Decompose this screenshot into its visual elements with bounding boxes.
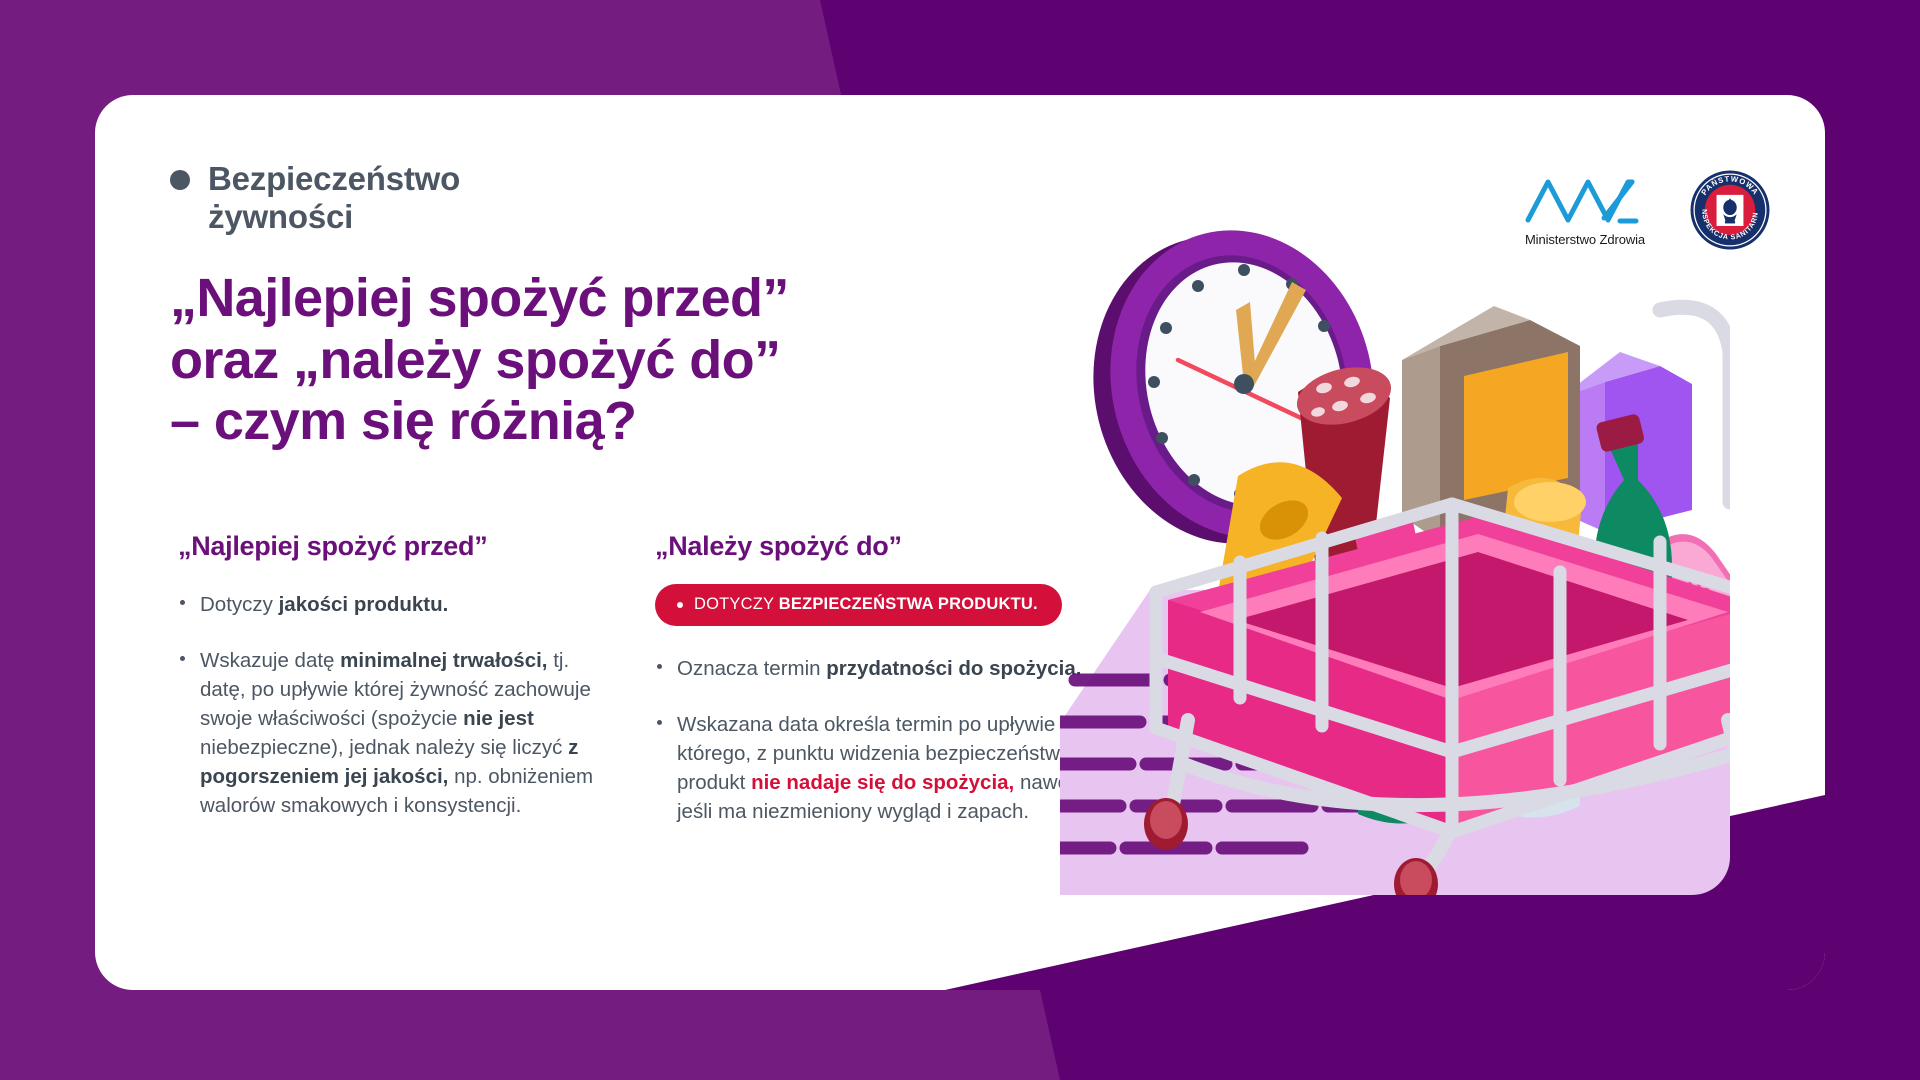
- badge-prefix: DOTYCZY: [694, 595, 779, 613]
- right-column-title: „Należy spożyć do”: [655, 530, 1085, 562]
- left-bullet-item: Wskazuje datę minimalnej trwałości, tj. …: [178, 646, 608, 821]
- badge-text: DOTYCZY BEZPIECZEŃSTWA PRODUKTU.: [694, 595, 1038, 614]
- infographic-canvas: Bezpieczeństwo żywności „Najlepiej spoży…: [0, 0, 1920, 1080]
- eyebrow-text: Bezpieczeństwo żywności: [208, 160, 460, 237]
- headline-line-3: – czym się różnią?: [170, 391, 1150, 453]
- page-title: „Najlepiej spożyć przed” oraz „należy sp…: [170, 268, 1150, 453]
- right-column-bullet-list: Oznacza termin przydatności do spożycia.…: [655, 654, 1085, 826]
- left-bullet-item-0-part-1: jakości produktu.: [279, 593, 449, 616]
- headline-line-1: „Najlepiej spożyć przed”: [170, 268, 1150, 330]
- status-badge: DOTYCZY BEZPIECZEŃSTWA PRODUKTU.: [655, 584, 1062, 626]
- headline-line-2: oraz „należy spożyć do”: [170, 330, 1150, 392]
- left-column-bullet-list: Dotyczy jakości produktu.Wskazuje datę m…: [178, 590, 608, 820]
- right-bullet-item-1-part-1: nie nadaje się do spożycia,: [751, 771, 1014, 794]
- badge-bullet-icon: [677, 602, 683, 608]
- left-bullet-item: Dotyczy jakości produktu.: [178, 590, 608, 619]
- right-column: „Należy spożyć do” DOTYCZY BEZPIECZEŃSTW…: [655, 530, 1085, 852]
- right-bullet-item-0-part-0: Oznacza termin: [677, 657, 826, 680]
- left-bullet-item-1-part-4: niebezpieczne), jednak należy się liczyć: [200, 736, 568, 759]
- left-column: „Najlepiej spożyć przed” Dotyczy jakości…: [178, 530, 608, 846]
- eyebrow-line-2: żywności: [208, 198, 353, 235]
- eyebrow-label: Bezpieczeństwo żywności: [170, 160, 690, 237]
- badge-emphasis: BEZPIECZEŃSTWA PRODUKTU.: [779, 595, 1038, 613]
- eyebrow-line-1: Bezpieczeństwo: [208, 160, 460, 197]
- left-bullet-item-1-part-3: nie jest: [463, 707, 534, 730]
- left-bullet-item-1-part-0: Wskazuje datę: [200, 649, 340, 672]
- right-bullet-item: Oznacza termin przydatności do spożycia.: [655, 654, 1085, 683]
- right-bullet-item-0-part-1: przydatności do spożycia.: [826, 657, 1081, 680]
- left-bullet-item-0-part-0: Dotyczy: [200, 593, 279, 616]
- left-bullet-item-1-part-1: minimalnej trwałości,: [340, 649, 547, 672]
- bullet-dot-icon: [170, 170, 190, 190]
- right-bullet-item: Wskazana data określa termin po upływie …: [655, 710, 1085, 826]
- left-column-title: „Najlepiej spożyć przed”: [178, 530, 608, 562]
- clock-and-shopping-cart-illustration: Serek Mleko: [1060, 160, 1840, 900]
